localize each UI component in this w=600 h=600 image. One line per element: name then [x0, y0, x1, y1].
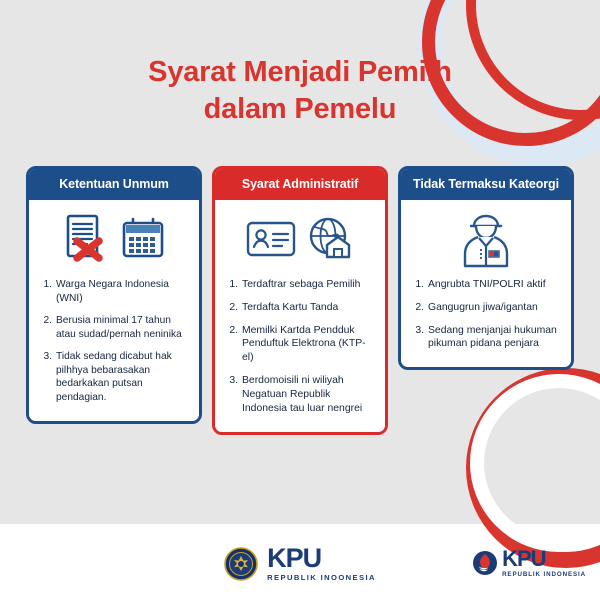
footer-logo-right: KPU REPUBLIK INDONESIA	[472, 548, 586, 578]
list-item-number: 1.	[223, 278, 242, 292]
list-item: 1. Warga Negara Indonesia (WNI)	[37, 278, 191, 305]
cards-row: Ketentuan Unmum	[26, 166, 574, 435]
kpu-subtitle-text: REPUBLIK INOONESIA	[267, 574, 376, 582]
list-item-text: Tidak sedang dicabut hak pilhhya bebaras…	[56, 350, 191, 404]
page-title-line1: Syarat Menjadi Pemilh	[148, 56, 452, 88]
list-item-number: 2.	[223, 324, 242, 365]
kpu-wordmark-text: KPU	[267, 545, 376, 572]
list-item-text: Gangugrun jiwa/igantan	[428, 301, 563, 315]
list-item: 1. Terdaftrar sebaga Pemilih	[223, 278, 377, 292]
list-item-number: 3.	[409, 324, 428, 352]
list-item-number: 2.	[223, 301, 242, 315]
card-header-3: Tidak Termaksu Kateorgi	[401, 169, 571, 200]
card-body-3: 1. Angrubta TNI/POLRI aktif 2. Gangugrun…	[401, 200, 571, 367]
list-item: 3. Tidak sedang dicabut hak pilhhya beba…	[37, 350, 191, 404]
page-title: Syarat Menjadi Pemilh dalam Pemelu	[0, 54, 600, 128]
list-item-text: Berusia minimal 17 tahun atau sudad/pern…	[56, 314, 191, 341]
card-2-list: 1. Terdaftrar sebaga Pemilih 2. Terdafta…	[223, 278, 377, 416]
calendar-icon	[121, 217, 165, 266]
infographic-poster: Syarat Menjadi Pemilh dalam Pemelu Keten…	[0, 0, 600, 600]
list-item-number: 1.	[409, 278, 428, 292]
card-ketentuan-umum: Ketentuan Unmum	[26, 166, 202, 424]
list-item: 2. Berusia minimal 17 tahun atau sudad/p…	[37, 314, 191, 341]
list-item-text: Terdaftrar sebaga Pemilih	[242, 278, 377, 292]
list-item-number: 3.	[223, 374, 242, 415]
card-header-1: Ketentuan Unmum	[29, 169, 199, 200]
list-item: 3. Berdomoisili ni wiliyah Negatuan Repu…	[223, 374, 377, 415]
kpu-wordmark-text: KPU	[502, 548, 586, 570]
list-item-text: Berdomoisili ni wiliyah Negatuan Republi…	[242, 374, 377, 415]
kpu-flame-mark-icon	[472, 550, 498, 576]
kpu-wordmark-center: KPU REPUBLIK INOONESIA	[267, 545, 376, 582]
card-body-1: 1. Warga Negara Indonesia (WNI) 2. Berus…	[29, 200, 199, 421]
globe-house-icon	[306, 216, 354, 267]
list-item-text: Angrubta TNI/POLRI aktif	[428, 278, 563, 292]
card-3-list: 1. Angrubta TNI/POLRI aktif 2. Gangugrun…	[409, 278, 563, 351]
document-with-x-icon	[63, 213, 111, 270]
list-item-number: 1.	[37, 278, 56, 305]
card-3-icons	[409, 210, 563, 272]
card-1-icons	[37, 210, 191, 272]
list-item-number: 3.	[37, 350, 56, 404]
card-syarat-administratif: Syarat Administratif	[212, 166, 388, 435]
card-header-2: Syarat Administratif	[215, 169, 385, 200]
kpu-wordmark-right: KPU REPUBLIK INDONESIA	[502, 548, 586, 578]
list-item: 2. Terdafta Kartu Tanda	[223, 301, 377, 315]
list-item-number: 2.	[37, 314, 56, 341]
list-item: 1. Angrubta TNI/POLRI aktif	[409, 278, 563, 292]
list-item: 2. Memilki Kartda Pendduk Penduftuk Elek…	[223, 324, 377, 365]
page-title-line2: dalam Pemelu	[0, 91, 600, 128]
card-body-2: 1. Terdaftrar sebaga Pemilih 2. Terdafta…	[215, 200, 385, 432]
id-card-icon	[246, 219, 296, 264]
card-2-icons	[223, 210, 377, 272]
list-item-text: Memilki Kartda Pendduk Penduftuk Elektro…	[242, 324, 377, 365]
list-item-text: Warga Negara Indonesia (WNI)	[56, 278, 191, 305]
officer-person-icon	[458, 210, 514, 273]
list-item-number: 2.	[409, 301, 428, 315]
card-1-list: 1. Warga Negara Indonesia (WNI) 2. Berus…	[37, 278, 191, 405]
kpu-garuda-seal-icon	[224, 547, 258, 581]
list-item-text: Sedang menjanjai hukuman pikuman pidana …	[428, 324, 563, 352]
list-item: 3. Sedang menjanjai hukuman pikuman pida…	[409, 324, 563, 352]
card-tidak-termasuk-kategori: Tidak Termaksu Kateorgi	[398, 166, 574, 370]
list-item-text: Terdafta Kartu Tanda	[242, 301, 377, 315]
kpu-subtitle-text: REPUBLIK INDONESIA	[502, 572, 586, 578]
list-item: 2. Gangugrun jiwa/igantan	[409, 301, 563, 315]
